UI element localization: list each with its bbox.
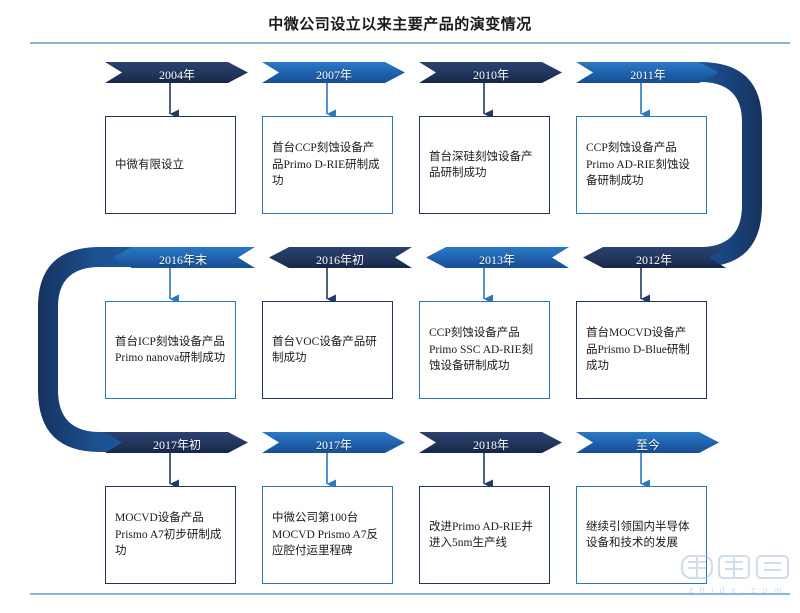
milestone-box-2017[interactable]: 中微公司第100台MOCVD Prismo A7反应腔付运里程碑 — [262, 486, 393, 584]
milestone-text: 首台ICP刻蚀设备产品Primo nanova研制成功 — [115, 334, 226, 367]
milestone-box-2016-end[interactable]: 首台ICP刻蚀设备产品Primo nanova研制成功 — [105, 301, 236, 399]
milestone-text: MOCVD设备产品Prismo A7初步研制成功 — [115, 510, 226, 560]
chevron-label-row2-0[interactable]: 2016年末 — [128, 251, 238, 268]
milestone-box-2010[interactable]: 首台深硅刻蚀设备产品研制成功 — [419, 116, 550, 214]
milestone-text: CCP刻蚀设备产品Primo SSC AD-RIE刻蚀设备研制成功 — [429, 325, 540, 375]
milestone-text: 首台深硅刻蚀设备产品研制成功 — [429, 149, 540, 182]
milestone-box-2017-start[interactable]: MOCVD设备产品Prismo A7初步研制成功 — [105, 486, 236, 584]
milestone-box-2004[interactable]: 中微有限设立 — [105, 116, 236, 214]
milestone-text: 中微有限设立 — [115, 157, 184, 174]
chevron-label-row2-2[interactable]: 2013年 — [442, 251, 552, 268]
milestone-text: 改进Primo AD-RIE并进入5nm生产线 — [429, 519, 540, 552]
milestone-box-2016-start[interactable]: 首台VOC设备产品研制成功 — [262, 301, 393, 399]
milestone-text: 继续引领国内半导体设备和技术的发展 — [586, 519, 697, 552]
milestone-text: CCP刻蚀设备产品Primo AD-RIE刻蚀设备研制成功 — [586, 140, 697, 190]
chevron-label-row1-3[interactable]: 2011年 — [593, 66, 703, 83]
chevron-label-row1-2[interactable]: 2010年 — [436, 66, 546, 83]
chevron-label-row1-1[interactable]: 2007年 — [279, 66, 389, 83]
milestone-box-2011[interactable]: CCP刻蚀设备产品Primo AD-RIE刻蚀设备研制成功 — [576, 116, 707, 214]
chevron-label-row3-0[interactable]: 2017年初 — [122, 436, 232, 453]
chevron-label-row2-1[interactable]: 2016年初 — [285, 251, 395, 268]
diagram-canvas: 中微公司设立以来主要产品的演变情况 — [0, 0, 800, 613]
milestone-box-2007[interactable]: 首台CCP刻蚀设备产品Primo D-RIE研制成功 — [262, 116, 393, 214]
chevron-label-row3-3[interactable]: 至今 — [593, 436, 703, 453]
milestone-box-2018[interactable]: 改进Primo AD-RIE并进入5nm生产线 — [419, 486, 550, 584]
page-title: 中微公司设立以来主要产品的演变情况 — [0, 13, 800, 34]
milestone-box-2013[interactable]: CCP刻蚀设备产品Primo SSC AD-RIE刻蚀设备研制成功 — [419, 301, 550, 399]
chevron-label-row1-0[interactable]: 2004年 — [122, 66, 232, 83]
milestone-box-2012[interactable]: 首台MOCVD设备产品Prismo D-Blue研制成功 — [576, 301, 707, 399]
chevron-label-row2-3[interactable]: 2012年 — [599, 251, 709, 268]
title-divider-top — [30, 42, 790, 44]
milestone-text: 首台MOCVD设备产品Prismo D-Blue研制成功 — [586, 325, 697, 375]
milestone-box-present[interactable]: 继续引领国内半导体设备和技术的发展 — [576, 486, 707, 584]
milestone-text: 中微公司第100台MOCVD Prismo A7反应腔付运里程碑 — [272, 510, 383, 560]
milestone-text: 首台CCP刻蚀设备产品Primo D-RIE研制成功 — [272, 140, 383, 190]
chevron-label-row3-1[interactable]: 2017年 — [279, 436, 389, 453]
milestone-text: 首台VOC设备产品研制成功 — [272, 334, 383, 367]
chevron-label-row3-2[interactable]: 2018年 — [436, 436, 546, 453]
drop-arrows — [170, 83, 641, 484]
divider-bottom — [30, 593, 790, 595]
